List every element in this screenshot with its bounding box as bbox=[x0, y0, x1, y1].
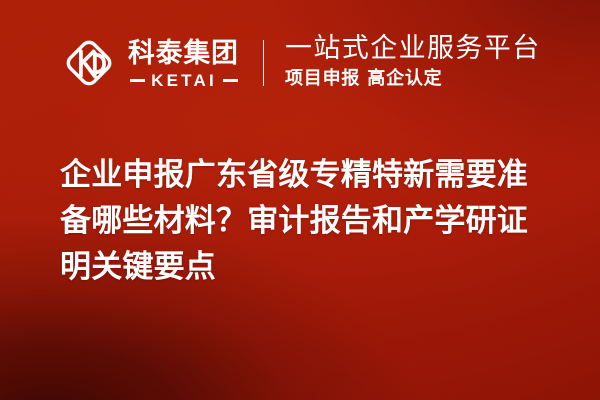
brand-name-latin-row: KETAI bbox=[128, 72, 240, 89]
poster-canvas: 科泰集团 KETAI 一站式企业服务平台 项目申报 高企认定 企业申报广东省级专… bbox=[0, 0, 600, 400]
header-vertical-divider bbox=[263, 40, 264, 86]
brand-rule-right-icon bbox=[223, 79, 238, 82]
title-line-1: 企业申报广东省级专精特新需要准 bbox=[60, 152, 564, 198]
brand-name-cn: 科泰集团 bbox=[128, 39, 239, 69]
brand-name-latin: KETAI bbox=[151, 72, 217, 89]
tagline-secondary: 项目申报 高企认定 bbox=[285, 68, 541, 90]
brand-wordmark: 科泰集团 KETAI bbox=[128, 37, 240, 89]
title-line-2: 备哪些材料？审计报告和产学研证 bbox=[60, 198, 564, 244]
header-bar: 科泰集团 KETAI 一站式企业服务平台 项目申报 高企认定 bbox=[0, 0, 600, 125]
brand-rule-left-icon bbox=[130, 79, 145, 82]
title-line-3: 明关键要点 bbox=[60, 244, 564, 290]
tagline-block: 一站式企业服务平台 项目申报 高企认定 bbox=[285, 33, 541, 92]
article-title: 企业申报广东省级专精特新需要准 备哪些材料？审计报告和产学研证 明关键要点 bbox=[60, 152, 564, 290]
tagline-primary: 一站式企业服务平台 bbox=[285, 33, 541, 64]
ketai-diamond-kt-logo-icon bbox=[60, 34, 118, 92]
brand-lockup[interactable]: 科泰集团 KETAI bbox=[60, 34, 240, 92]
